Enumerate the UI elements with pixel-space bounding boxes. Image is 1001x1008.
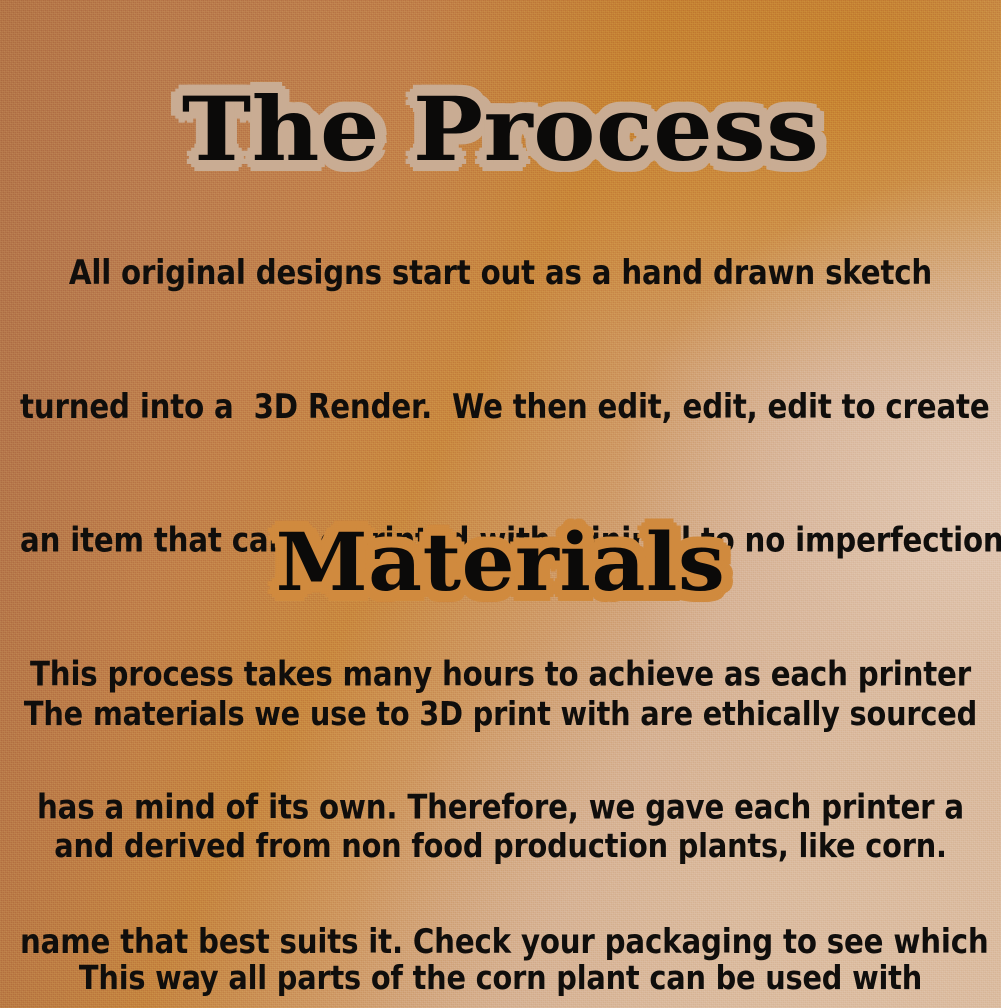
heading-the-process: The Process [0,85,1001,173]
process-line-1: All original designs start out as a hand… [20,252,981,297]
process-line-2: turned into a 3D Render. We then edit, e… [20,386,981,431]
materials-line-1: The materials we use to 3D print with ar… [20,693,981,737]
paragraph-materials: The materials we use to 3D print with ar… [20,605,981,1008]
materials-line-2: and derived from non food production pla… [20,825,981,869]
poster-content: The Process All original designs start o… [0,0,1001,1008]
heading-materials: Materials [0,522,1001,602]
poster-canvas: The Process All original designs start o… [0,0,1001,1008]
materials-line-3: This way all parts of the corn plant can… [20,957,981,1001]
